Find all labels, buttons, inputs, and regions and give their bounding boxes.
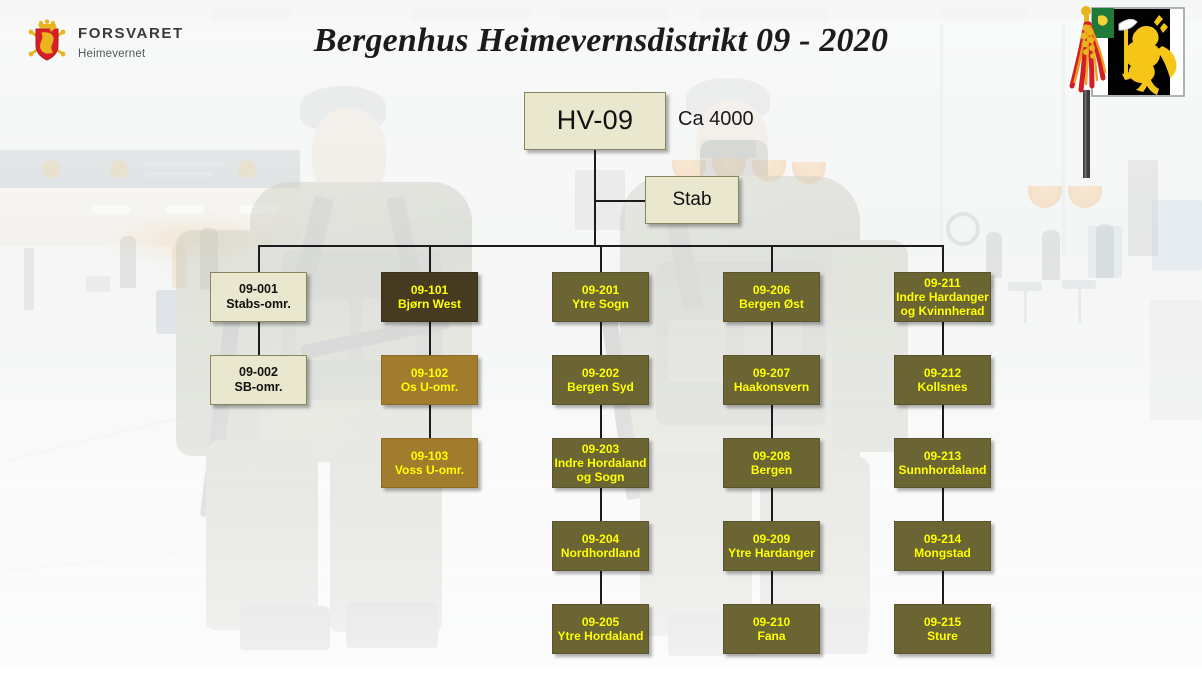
node-name: Fana [757,629,785,643]
connector-drop-col5 [942,245,944,272]
node-name: Os U-omr. [401,380,458,394]
connector-col5-r2-r3 [942,405,944,438]
node-name: Voss U-omr. [395,463,464,477]
node-code: 09-208 [753,449,790,463]
node-code: 09-213 [924,449,961,463]
node-09-101[interactable]: 09-101Bjørn West [381,272,478,322]
node-label: HV-09 [557,105,634,137]
node-code: 09-211 [924,276,961,290]
node-code: 09-202 [582,366,619,380]
node-name: Bergen Syd [567,380,634,394]
slide-canvas: FORSVARET Heimevernet Bergenhus Heimever… [0,0,1202,677]
node-09-211[interactable]: 09-211Indre Hardangerog Kvinnherad [894,272,991,322]
node-09-002[interactable]: 09-002SB-omr. [210,355,307,405]
node-name: Ytre Sogn [572,297,629,311]
node-code: 09-102 [411,366,448,380]
node-09-209[interactable]: 09-209Ytre Hardanger [723,521,820,571]
node-name: Sture [927,629,958,643]
node-09-001[interactable]: 09-001Stabs-omr. [210,272,307,322]
node-09-205[interactable]: 09-205Ytre Hordaland [552,604,649,654]
node-name: og Kvinnherad [900,304,984,318]
connector-col3-r4-r5 [600,571,602,604]
node-code: 09-002 [239,365,278,380]
strength-annotation: Ca 4000 [678,108,754,131]
org-chart: HV-09 Ca 4000 Stab [0,0,1202,677]
node-name: og Sogn [577,470,625,484]
node-name: Indre Hordaland [554,456,646,470]
connector-drop-col3 [600,245,602,272]
node-code: 09-207 [753,366,790,380]
connector-col2-r2-r3 [429,405,431,438]
connector-col4-r3-r4 [771,488,773,521]
connector-root-stem [594,150,596,246]
connector-col1-r1-r2 [258,322,260,355]
node-name: Bergen Øst [739,297,804,311]
connector-col5-r4-r5 [942,571,944,604]
node-name: Kollsnes [917,380,967,394]
node-code: 09-001 [239,282,278,297]
node-code: 09-215 [924,615,961,629]
node-name: Bergen [751,463,792,477]
connector-col4-r2-r3 [771,405,773,438]
node-code: 09-101 [411,283,448,297]
node-09-215[interactable]: 09-215Sture [894,604,991,654]
node-09-202[interactable]: 09-202Bergen Syd [552,355,649,405]
connector-col4-r4-r5 [771,571,773,604]
node-09-212[interactable]: 09-212Kollsnes [894,355,991,405]
connector-drop-col1 [258,245,260,272]
connector-col2-r1-r2 [429,322,431,355]
node-name: Nordhordland [561,546,640,560]
node-name: Ytre Hordaland [557,629,643,643]
node-stab[interactable]: Stab [645,176,739,224]
node-name: Ytre Hardanger [728,546,815,560]
node-name: SB-omr. [235,380,283,395]
connector-col3-r1-r2 [600,322,602,355]
node-name: Stabs-omr. [226,297,291,312]
connector-stab-branch [594,200,645,202]
node-code: 09-209 [753,532,790,546]
node-code: 09-204 [582,532,619,546]
node-code: 09-210 [753,615,790,629]
node-code: 09-206 [753,283,790,297]
connector-col5-r3-r4 [942,488,944,521]
connector-col3-r2-r3 [600,405,602,438]
node-name: Indre Hardanger [896,290,989,304]
node-code: 09-201 [582,283,619,297]
connector-col3-r3-r4 [600,488,602,521]
node-code: 09-103 [411,449,448,463]
node-09-207[interactable]: 09-207Haakonsvern [723,355,820,405]
node-name: Haakonsvern [734,380,809,394]
connector-col5-r1-r2 [942,322,944,355]
connector-col4-r1-r2 [771,322,773,355]
node-code: 09-212 [924,366,961,380]
node-name: Mongstad [914,546,971,560]
connector-drop-col2 [429,245,431,272]
connector-drop-col4 [771,245,773,272]
node-09-206[interactable]: 09-206Bergen Øst [723,272,820,322]
node-09-103[interactable]: 09-103Voss U-omr. [381,438,478,488]
node-hv-09[interactable]: HV-09 [524,92,666,150]
node-name: Bjørn West [398,297,461,311]
node-code: 09-205 [582,615,619,629]
node-name: Sunnhordaland [899,463,987,477]
node-09-203[interactable]: 09-203Indre Hordalandog Sogn [552,438,649,488]
node-09-102[interactable]: 09-102Os U-omr. [381,355,478,405]
node-09-213[interactable]: 09-213Sunnhordaland [894,438,991,488]
node-09-214[interactable]: 09-214Mongstad [894,521,991,571]
node-code: 09-203 [582,442,619,456]
node-code: 09-214 [924,532,961,546]
node-09-208[interactable]: 09-208Bergen [723,438,820,488]
node-09-204[interactable]: 09-204Nordhordland [552,521,649,571]
node-label: Stab [672,189,711,211]
node-09-201[interactable]: 09-201Ytre Sogn [552,272,649,322]
node-09-210[interactable]: 09-210Fana [723,604,820,654]
